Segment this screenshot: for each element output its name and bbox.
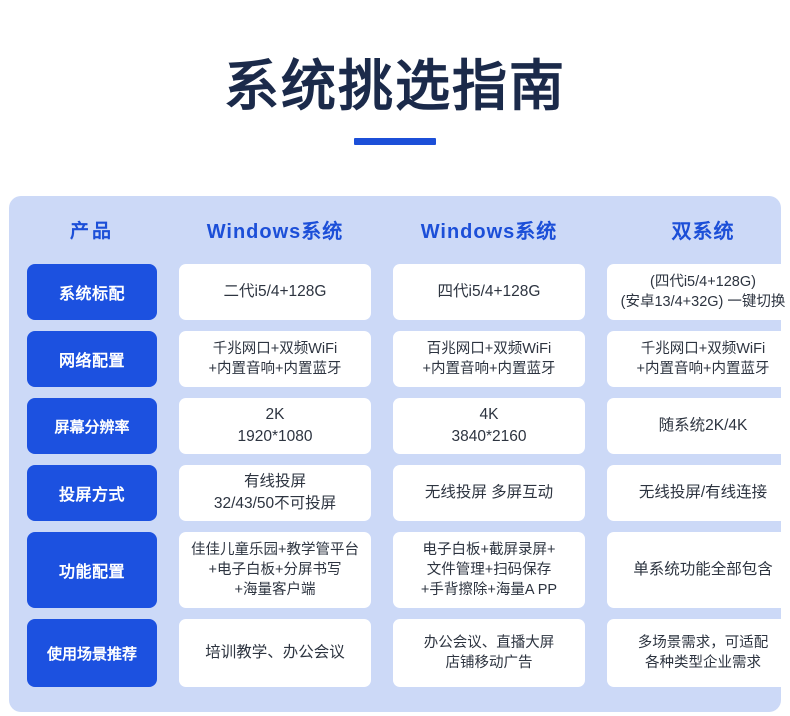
cell-casting-method-win-b: 无线投屏 多屏互动 [393,465,585,521]
cell-casting-method-dual: 无线投屏/有线连接 [607,465,790,521]
cell-feature-config-dual: 单系统功能全部包含 [607,532,790,608]
row-label-system-spec: 系统标配 [27,264,157,320]
cell-network-config-win-b: 百兆网口+双频WiFi +内置音响+内置蓝牙 [393,331,585,387]
column-header-win-a: Windows系统 [179,205,371,253]
page-title: 系统挑选指南 [0,58,790,116]
row-label-feature-config: 功能配置 [27,532,157,608]
column-header-win-b: Windows系统 [393,205,585,253]
comparison-grid: 产品 Windows系统 Windows系统 双系统 系统标配 二代i5/4+1… [9,196,781,712]
cell-feature-config-win-a: 佳佳儿童乐园+教学管平台 +电子白板+分屏书写 +海量客户端 [179,532,371,608]
row-label-usage-scenario: 使用场景推荐 [27,619,157,687]
cell-system-spec-win-a: 二代i5/4+128G [179,264,371,320]
cell-usage-scenario-dual: 多场景需求，可适配 各种类型企业需求 [607,619,790,687]
cell-network-config-win-a: 千兆网口+双频WiFi +内置音响+内置蓝牙 [179,331,371,387]
cell-system-spec-dual: (四代i5/4+128G) (安卓13/4+32G) 一键切换 [607,264,790,320]
cell-system-spec-win-b: 四代i5/4+128G [393,264,585,320]
cell-screen-resolution-dual: 随系统2K/4K [607,398,790,454]
cell-usage-scenario-win-b: 办公会议、直播大屏 店铺移动广告 [393,619,585,687]
row-label-casting-method: 投屏方式 [27,465,157,521]
title-accent-rule [354,138,436,145]
column-header-product: 产品 [27,205,157,253]
cell-screen-resolution-win-a: 2K 1920*1080 [179,398,371,454]
row-label-network-config: 网络配置 [27,331,157,387]
cell-usage-scenario-win-a: 培训教学、办公会议 [179,619,371,687]
column-header-dual: 双系统 [607,205,790,253]
row-label-screen-resolution: 屏幕分辨率 [27,398,157,454]
cell-casting-method-win-a: 有线投屏 32/43/50不可投屏 [179,465,371,521]
title-block: 系统挑选指南 [0,0,790,145]
comparison-panel: 产品 Windows系统 Windows系统 双系统 系统标配 二代i5/4+1… [9,196,781,712]
cell-network-config-dual: 千兆网口+双频WiFi +内置音响+内置蓝牙 [607,331,790,387]
cell-screen-resolution-win-b: 4K 3840*2160 [393,398,585,454]
cell-feature-config-win-b: 电子白板+截屏录屏+ 文件管理+扫码保存 +手背擦除+海量A PP [393,532,585,608]
page-root: 系统挑选指南 产品 Windows系统 Windows系统 双系统 系统标配 二… [0,0,790,716]
